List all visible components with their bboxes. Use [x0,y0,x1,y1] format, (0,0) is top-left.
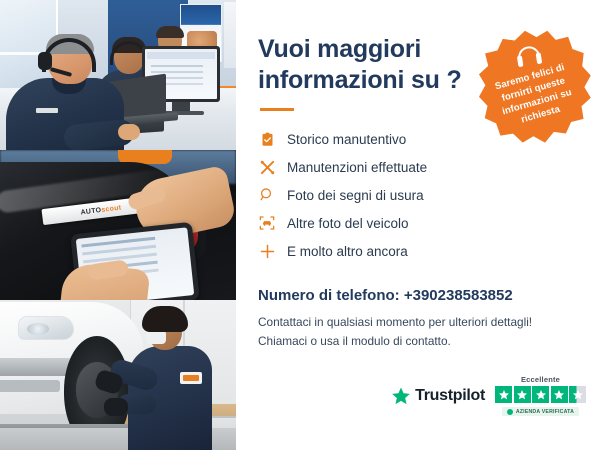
tablet-inspection-photo: AUTOscout [0,150,236,300]
title-divider [260,108,294,111]
call-center-photo [0,0,236,150]
contact-description-line-2: Chiamaci o usa il modulo di contatto. [258,332,576,351]
trustpilot-rating: Eccellente AZIENDA VERIFICATA [495,375,586,416]
strip-label-part2: scout [101,204,122,213]
list-item-label: Manutenzioni effettuate [287,160,427,175]
strip-label-part1: AUTO [80,206,102,215]
verified-label: AZIENDA VERIFICATA [516,409,574,415]
rating-label: Eccellente [521,375,560,384]
list-item-label: Altre foto del veicolo [287,216,409,231]
phone-label: Numero di telefono: [258,287,400,304]
headlight [18,316,74,340]
list-item: Foto dei segni di usura [258,181,576,209]
phone-number[interactable]: +390238583852 [404,287,513,304]
trustpilot-widget[interactable]: Trustpilot Eccellente AZIENDA VERIFICATA [391,375,586,416]
verified-badge: AZIENDA VERIFICATA [502,407,579,416]
car-scan-icon [258,214,276,232]
headset-icon [517,45,542,68]
plus-icon [258,242,276,260]
mechanic [124,306,216,450]
clipboard-check-icon [258,130,276,148]
promo-banner: AUTOscout [0,0,600,450]
foreground-agent [6,36,128,150]
callout-badge: Saremo felici di fornirti queste informa… [468,22,600,155]
page-title: Vuoi maggiori informazioni su ? [258,34,473,96]
star-1 [495,386,512,403]
list-item-label: Storico manutentivo [287,132,406,147]
list-item-label: E molto altro ancora [287,244,408,259]
page-title-line-1: Vuoi maggiori [258,35,421,63]
trustpilot-brand-name: Trustpilot [415,387,485,405]
contact-description-line-1: Contattaci in qualsiasi momento per ulte… [258,313,576,332]
crossed-tools-icon [258,158,276,176]
trustpilot-star-icon [391,386,411,406]
page-title-line-2: informazioni su ? [258,66,462,94]
list-item: Altre foto del veicolo [258,209,576,237]
list-item: Manutenzioni effettuate [258,153,576,181]
mechanic-wheel-photo [0,300,236,450]
verified-check-icon [507,409,513,415]
trustpilot-logo: Trustpilot [391,386,485,406]
list-item-label: Foto dei segni di usura [287,188,424,203]
star-4 [551,386,568,403]
phone-line: Numero di telefono: +390238583852 [258,287,576,304]
list-item: E molto altro ancora [258,237,576,265]
content-panel: Saremo felici di fornirti queste informa… [236,0,600,450]
magnifier-icon [258,186,276,204]
star-5-partial [569,386,586,403]
wall-poster-secondary [224,2,236,68]
lower-grille [0,380,60,392]
photo-column: AUTOscout [0,0,236,450]
star-3 [532,386,549,403]
contact-description: Contattaci in qualsiasi momento per ulte… [258,313,576,350]
star-2 [514,386,531,403]
star-rating [495,386,586,403]
